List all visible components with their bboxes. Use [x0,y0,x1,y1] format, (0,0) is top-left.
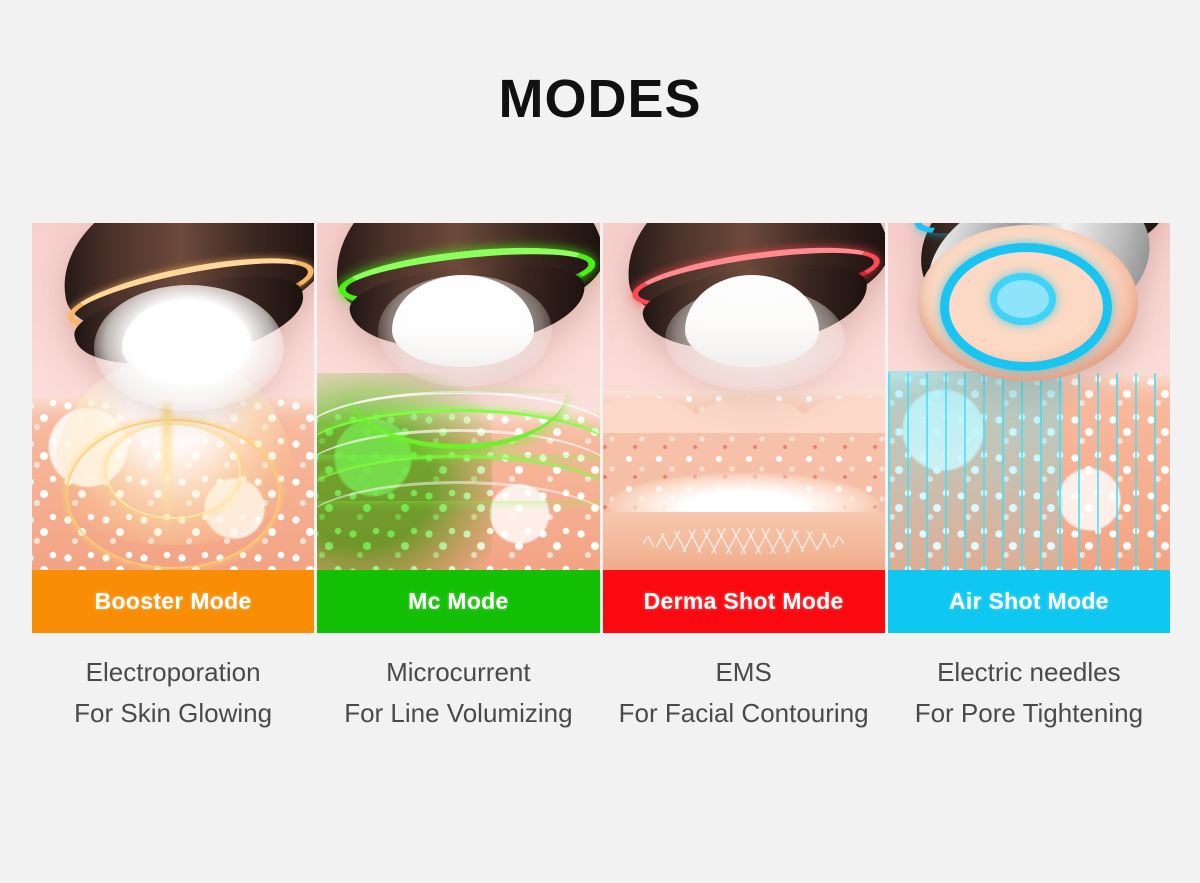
modes-page: MODES Booster Mode [0,0,1200,883]
mode-card-derma-shot[interactable]: Derma Shot Mode [603,223,885,633]
device-head-derma-shot [625,223,885,395]
caption-booster: Electroporation For Skin Glowing [32,652,314,742]
collagen-lattice [642,528,845,554]
caption-line-1: Electroporation [32,652,314,693]
device-head-booster [60,223,314,401]
caption-line-2: For Facial Contouring [603,693,885,734]
mode-label-air-shot: Air Shot Mode [888,570,1170,633]
page-title: MODES [0,72,1200,126]
mode-card-air-shot[interactable]: Air Shot Mode [888,223,1170,633]
caption-line-1: Electric needles [888,652,1170,693]
caption-line-1: EMS [603,652,885,693]
caption-line-2: For Skin Glowing [32,693,314,734]
mode-label-derma-shot: Derma Shot Mode [603,570,885,633]
mode-image-derma-shot [603,223,885,570]
mode-image-booster [32,223,314,570]
caption-air-shot: Electric needles For Pore Tightening [888,652,1170,742]
glow-ring-inner [105,423,240,519]
caption-line-2: For Pore Tightening [888,693,1170,734]
caption-mc: Microcurrent For Line Volumizing [317,652,599,742]
caption-derma-shot: EMS For Facial Contouring [603,652,885,742]
device-head-air-shot [888,223,1170,411]
cyan-ring-inner [990,273,1056,325]
tip-glow [378,275,552,387]
modes-gallery: Booster Mode [32,223,1170,633]
mode-image-mc [317,223,599,570]
tip-glow [94,285,284,411]
mode-label-booster: Booster Mode [32,570,314,633]
mode-captions: Electroporation For Skin Glowing Microcu… [32,652,1170,742]
mode-card-booster[interactable]: Booster Mode [32,223,314,633]
tip-glow [665,287,845,391]
mode-label-mc: Mc Mode [317,570,599,633]
mode-image-air-shot [888,223,1170,570]
caption-line-1: Microcurrent [317,652,599,693]
energy-beam [162,401,172,551]
caption-line-2: For Line Volumizing [317,693,599,734]
device-head-mc [334,223,599,397]
mode-card-mc[interactable]: Mc Mode [317,223,599,633]
